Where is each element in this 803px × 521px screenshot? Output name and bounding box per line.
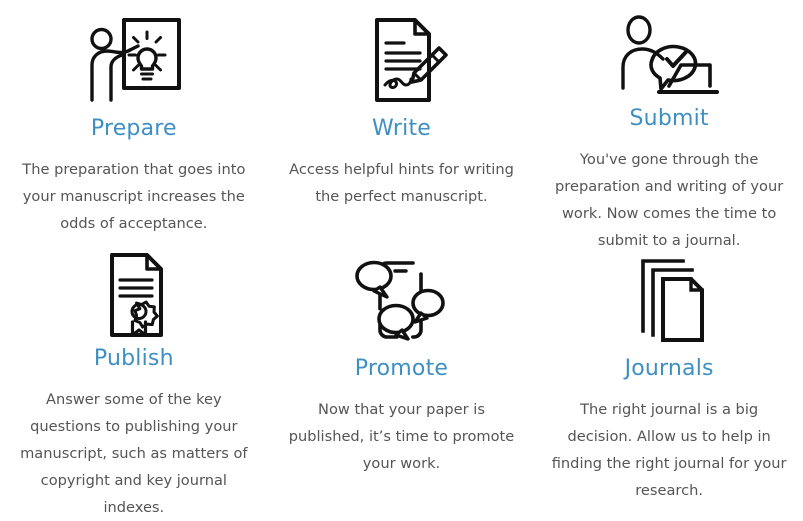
feature-card-publish[interactable]: Publish Answer some of the key questions… [0,240,268,504]
card-title: Promote [355,358,448,380]
feature-card-submit[interactable]: Submit You've gone through the preparati… [535,0,803,240]
card-description: The preparation that goes into your manu… [14,156,254,237]
card-title: Submit [630,108,709,130]
phone-with-speech-bubbles-icon [351,252,451,348]
feature-card-promote[interactable]: Promote Now that your paper is published… [268,240,536,504]
card-description: Answer some of the key questions to publ… [14,386,254,521]
card-description: The right journal is a big decision. All… [549,396,789,504]
card-title: Publish [94,348,174,370]
card-title: Prepare [91,118,177,140]
card-description: You've gone through the preparation and … [549,146,789,254]
feature-card-journals[interactable]: Journals The right journal is a big deci… [535,240,803,504]
stacked-documents-icon [621,252,717,348]
card-description: Access helpful hints for writing the per… [282,156,522,210]
certificate-with-award-seal-icon [86,252,182,338]
card-title: Write [372,118,431,140]
document-with-pen-signature-icon [353,12,449,108]
feature-card-grid: Prepare The preparation that goes into y… [0,0,803,504]
feature-card-prepare[interactable]: Prepare The preparation that goes into y… [0,0,268,240]
person-at-laptop-checkmark-bubble-icon [619,12,719,98]
card-description: Now that your paper is published, it’s t… [282,396,522,477]
feature-card-write[interactable]: Write Access helpful hints for writing t… [268,0,536,240]
person-presenting-lightbulb-board-icon [86,12,182,108]
card-title: Journals [625,358,714,380]
